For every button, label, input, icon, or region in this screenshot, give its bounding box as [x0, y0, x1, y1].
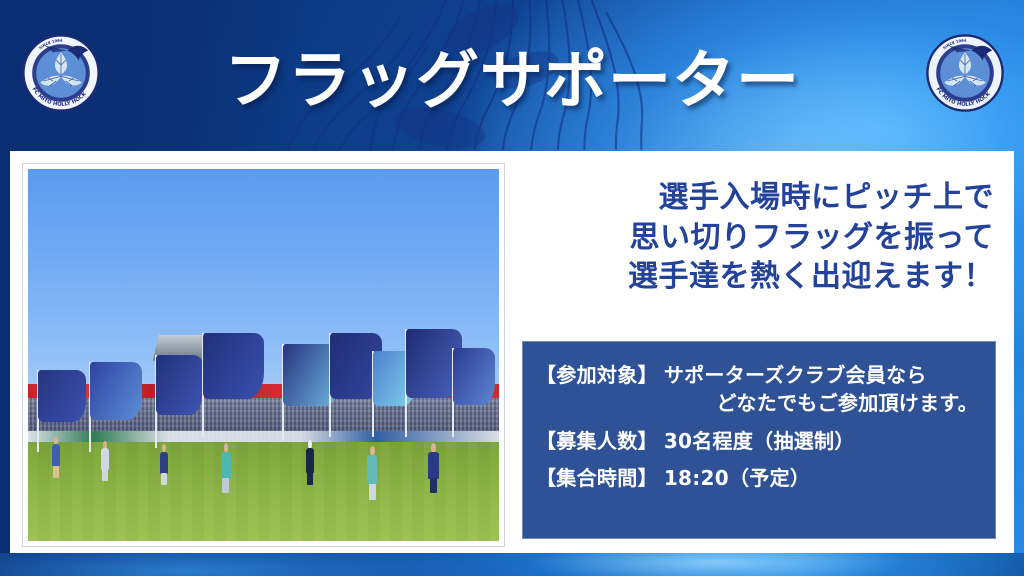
footer-bar [0, 553, 1024, 576]
page-title: フラッグサポーター [0, 0, 1024, 150]
detail-row-meeting-time: 【集合時間】 18:20（予定） [536, 464, 982, 492]
detail-value-meeting-time: 18:20（予定） [658, 464, 982, 492]
lead-copy: 選手入場時にピッチ上で 思い切りフラッグを振って 選手達を熱く出迎えます！ [524, 178, 994, 297]
photo-flag-bearer [428, 452, 438, 493]
lead-line-3: 選手達を熱く出迎えます！ [524, 257, 994, 297]
photo-flag [155, 355, 202, 448]
photo-flag [202, 333, 263, 437]
poster-root: FC MITO HOLLY HOCK SINCE 1994 [0, 0, 1024, 576]
detail-value-target-line1: サポーターズクラブ会員なら [664, 363, 927, 387]
event-details-box: 【参加対象】 サポーターズクラブ会員なら どなたでもご参加頂けます。 【募集人数… [522, 341, 996, 539]
event-photo [28, 169, 499, 541]
lead-line-2: 思い切りフラッグを振って [524, 218, 994, 258]
detail-label-meeting-time: 【集合時間】 [536, 464, 658, 492]
detail-label-target: 【参加対象】 [536, 361, 658, 389]
photo-flag [37, 370, 84, 452]
photo-flag-bearer [221, 452, 230, 493]
detail-row-capacity: 【募集人数】 30名程度（抽選制） [536, 427, 982, 455]
detail-value-target: サポーターズクラブ会員なら どなたでもご参加頂けます。 [658, 361, 982, 418]
photo-flag [452, 348, 494, 437]
event-photo-frame [23, 164, 504, 546]
detail-value-target-line2: どなたでもご参加頂けます。 [664, 389, 982, 417]
header-banner: FC MITO HOLLY HOCK SINCE 1994 [0, 0, 1024, 150]
photo-flag-bearer [367, 455, 377, 500]
photo-flag-bearer [101, 448, 109, 481]
lead-line-1: 選手入場時にピッチ上で [524, 178, 994, 218]
detail-value-capacity: 30名程度（抽選制） [658, 427, 982, 455]
photo-flag-bearer [52, 444, 60, 477]
detail-row-target: 【参加対象】 サポーターズクラブ会員なら どなたでもご参加頂けます。 [536, 361, 982, 418]
photo-flag [89, 362, 141, 451]
detail-label-capacity: 【募集人数】 [536, 427, 658, 455]
photo-staff [306, 448, 314, 485]
photo-flag-bearer [160, 452, 168, 485]
footer-gradient [0, 553, 1024, 576]
